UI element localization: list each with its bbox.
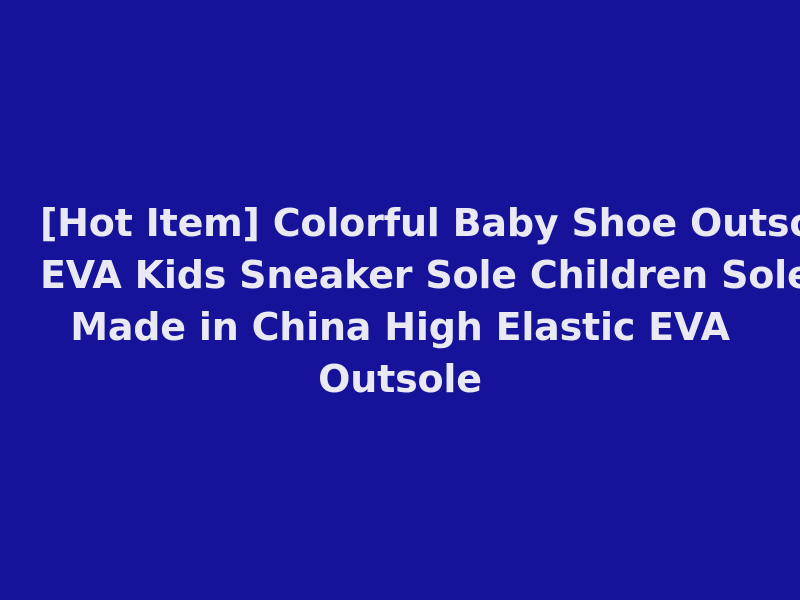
placeholder-card: [Hot Item] Colorful Baby Shoe Outsole EV… (0, 0, 800, 600)
page-title: [Hot Item] Colorful Baby Shoe Outsole EV… (40, 197, 760, 405)
title-line-1: [Hot Item] Colorful Baby Shoe Outsole (40, 197, 760, 249)
title-line-4: Outsole (40, 353, 760, 405)
title-line-2: EVA Kids Sneaker Sole Children Soles (40, 249, 760, 301)
title-line-3: Made in China High Elastic EVA (40, 301, 760, 353)
